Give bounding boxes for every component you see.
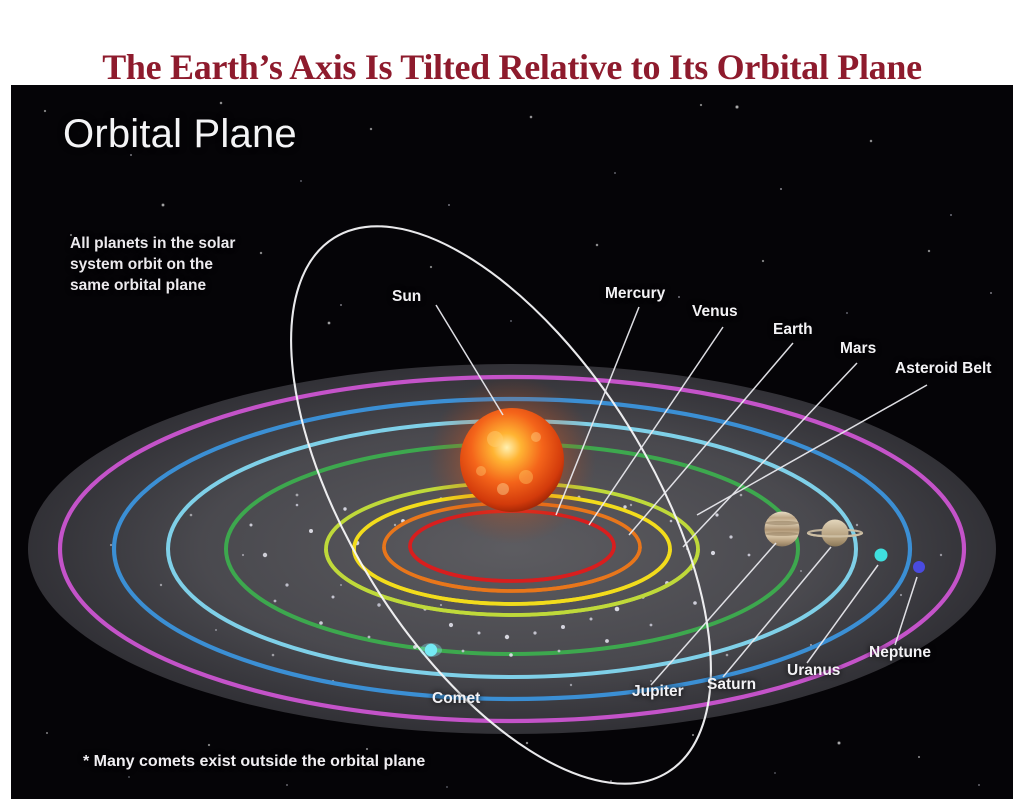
comet-coma bbox=[420, 643, 442, 657]
sun bbox=[460, 408, 564, 512]
planet-jupiter bbox=[765, 512, 800, 547]
planet-neptune bbox=[913, 561, 925, 573]
orbital-plane-illustration bbox=[11, 85, 1013, 799]
solar-system-figure: Orbital Plane All planets in the solar s… bbox=[11, 85, 1013, 799]
planet-uranus bbox=[875, 549, 888, 562]
